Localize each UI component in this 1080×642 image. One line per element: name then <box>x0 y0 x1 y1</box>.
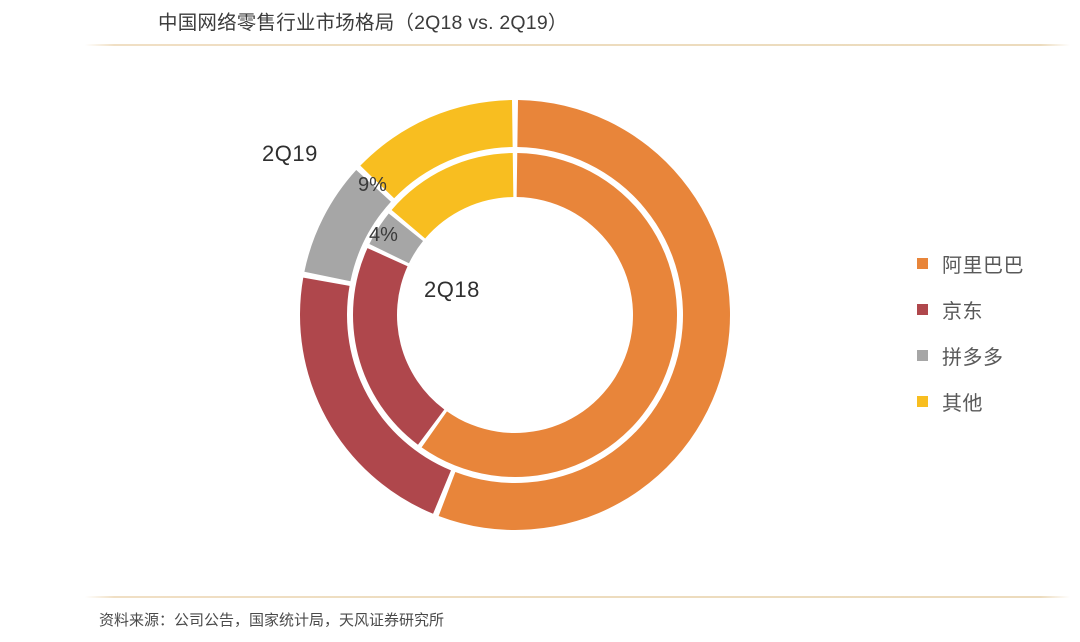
legend-item[interactable]: 拼多多 <box>917 332 1024 378</box>
legend-swatch-icon <box>917 258 928 269</box>
ring-label-inner: 2Q18 <box>424 277 480 303</box>
chart-page: 中国网络零售行业市场格局（2Q18 vs. 2Q19） 2Q19 2Q18 9%… <box>0 0 1080 642</box>
slice-label-outer-pinduoduo: 9% <box>358 174 387 197</box>
source-note: 资料来源：公司公告，国家统计局，天风证券研究所 <box>99 609 444 630</box>
legend-item[interactable]: 其他 <box>917 378 1024 424</box>
ring-label-outer: 2Q19 <box>262 141 318 167</box>
legend-item-label: 其他 <box>942 387 983 416</box>
legend-swatch-icon <box>917 350 928 361</box>
footer-divider <box>85 596 1070 598</box>
slice-label-inner-pinduoduo: 4% <box>369 224 398 247</box>
legend-swatch-icon <box>917 396 928 407</box>
nested-donut-chart <box>255 95 775 535</box>
legend-item-label: 京东 <box>942 295 983 324</box>
page-title: 中国网络零售行业市场格局（2Q18 vs. 2Q19） <box>158 6 568 35</box>
header-divider <box>85 44 1070 46</box>
legend-swatch-icon <box>917 304 928 315</box>
legend-item[interactable]: 阿里巴巴 <box>917 240 1024 286</box>
legend-item-label: 阿里巴巴 <box>942 249 1024 278</box>
donut-ring-2q18 <box>353 153 677 477</box>
legend-item-label: 拼多多 <box>942 341 1004 370</box>
donut-svg <box>255 95 775 535</box>
legend-item[interactable]: 京东 <box>917 286 1024 332</box>
chart-legend: 阿里巴巴京东拼多多其他 <box>917 240 1024 424</box>
